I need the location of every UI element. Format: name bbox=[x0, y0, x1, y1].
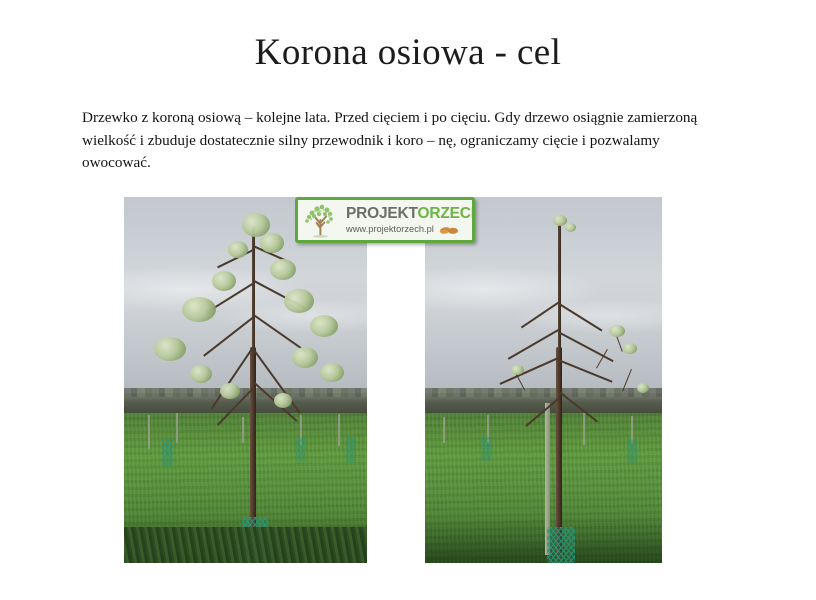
background-tree-guard bbox=[162, 439, 173, 467]
photo-row bbox=[124, 197, 662, 563]
logo-url-row[interactable]: www.projektorzech.pl bbox=[346, 225, 475, 234]
leaf-cluster bbox=[284, 289, 314, 313]
leaf-cluster bbox=[190, 365, 212, 383]
walnut-icon bbox=[439, 225, 459, 234]
logo-wordmark: PROJEKTORZECH bbox=[346, 206, 475, 222]
tree-trunk bbox=[556, 347, 562, 557]
leaf-cluster bbox=[228, 241, 248, 258]
leaf-cluster bbox=[565, 223, 576, 232]
leaf-cluster bbox=[609, 325, 625, 337]
field-post bbox=[583, 413, 585, 445]
leaf-cluster bbox=[623, 343, 637, 354]
leaf-cluster bbox=[212, 271, 236, 291]
logo-word-projekt: PROJEKT bbox=[346, 205, 418, 222]
leaf-cluster bbox=[511, 365, 524, 375]
background-tree-guard bbox=[346, 437, 356, 463]
leaf-cluster bbox=[260, 233, 284, 253]
tree-icon bbox=[298, 200, 344, 240]
body-paragraph: Drzewko z koroną osiową – kolejne lata. … bbox=[82, 107, 718, 175]
field-post bbox=[148, 415, 150, 449]
leaf-cluster bbox=[274, 393, 292, 408]
projekt-orzech-logo[interactable]: PROJEKTORZECH www.projektorzech.pl bbox=[295, 197, 475, 243]
foreground-vegetation bbox=[124, 527, 367, 563]
background-tree-guard bbox=[481, 437, 491, 461]
leaf-cluster bbox=[270, 259, 296, 280]
leaf-cluster bbox=[292, 347, 318, 368]
field-post bbox=[176, 413, 178, 443]
leaf-cluster bbox=[637, 383, 649, 393]
background-tree-guard bbox=[296, 437, 306, 461]
leaf-cluster bbox=[320, 363, 344, 382]
page-title: Korona osiowa - cel bbox=[0, 30, 816, 76]
leaf-cluster bbox=[310, 315, 338, 337]
field-post bbox=[242, 417, 244, 443]
background-tree-guard bbox=[627, 439, 637, 463]
logo-word-orzech: ORZECH bbox=[418, 205, 475, 222]
field-post bbox=[443, 417, 445, 443]
field-foreground-shadow bbox=[425, 515, 662, 563]
field-post bbox=[338, 414, 340, 446]
leaf-cluster bbox=[220, 383, 240, 399]
photo-tree-after-pruning bbox=[425, 197, 662, 563]
logo-text-block: PROJEKTORZECH www.projektorzech.pl bbox=[344, 206, 475, 234]
logo-url-text: www.projektorzech.pl bbox=[346, 225, 434, 234]
photo-tree-before-pruning bbox=[124, 197, 367, 563]
leaf-cluster bbox=[154, 337, 186, 361]
leaf-cluster bbox=[182, 297, 216, 322]
tree-trunk-guard bbox=[547, 527, 575, 563]
